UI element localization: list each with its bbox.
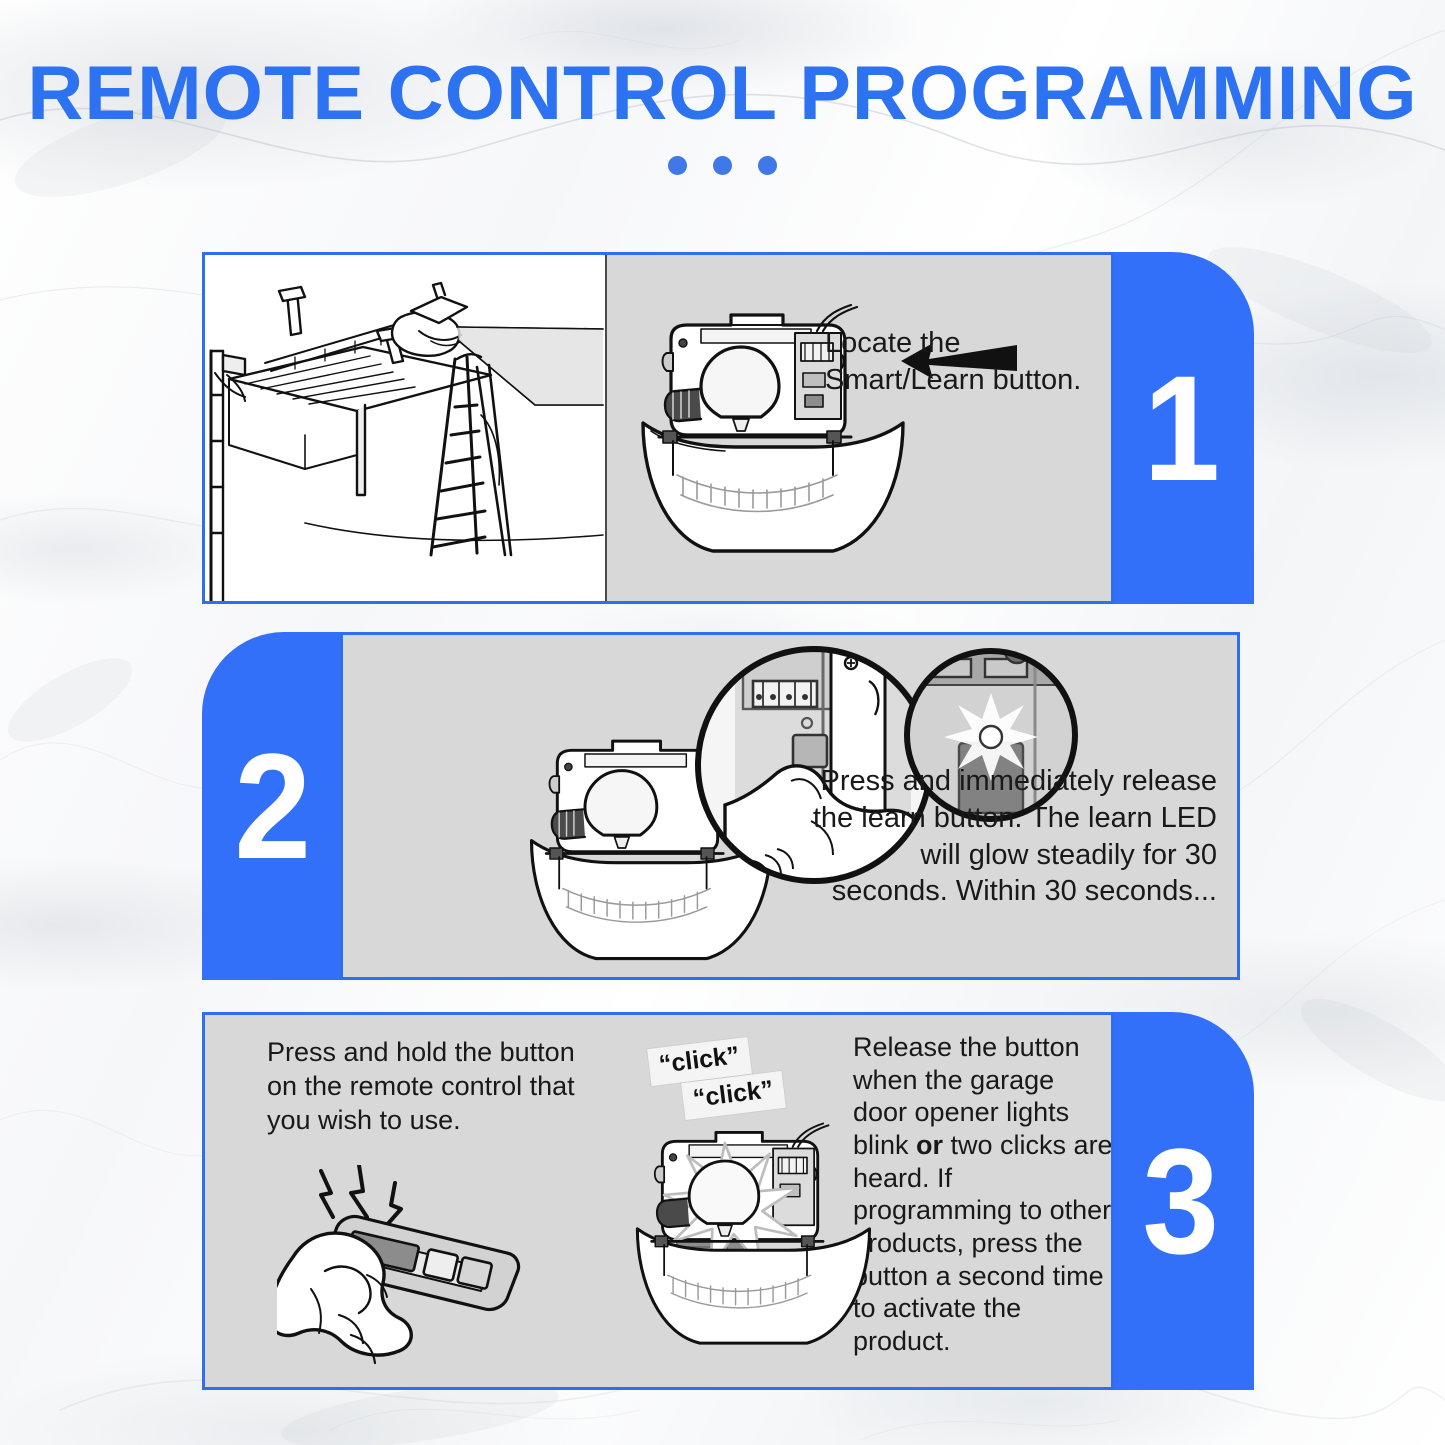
- step-number-2: 2: [235, 731, 312, 881]
- step-number-tab-3: 3: [1108, 1012, 1254, 1390]
- step-number-tab-2: 2: [202, 632, 344, 980]
- infographic-page: REMOTE CONTROL PROGRAMMING 1: [0, 0, 1445, 1445]
- step-3-text-emphasis: or: [916, 1130, 943, 1160]
- step-number-1: 1: [1144, 353, 1221, 503]
- step-number-3: 3: [1143, 1126, 1220, 1276]
- step-panel-2: 2: [202, 632, 1240, 980]
- step-1-instruction: Locate the Smart/Learn button.: [825, 325, 1085, 398]
- title-dot-1: [668, 156, 687, 175]
- step-3-frame: Press and hold the button on the remote …: [202, 1012, 1114, 1390]
- title-dots-decoration: [0, 156, 1445, 175]
- step-number-tab-1: 1: [1110, 252, 1254, 604]
- step-2-frame: Press and immediately release the learn …: [340, 632, 1240, 980]
- title-dot-2: [713, 156, 732, 175]
- step-3-instruction-left: Press and hold the button on the remote …: [267, 1035, 597, 1137]
- garage-door-opener-flashing-illustration: [617, 1111, 897, 1361]
- garage-with-ladder-illustration: [205, 255, 605, 601]
- step-panel-1: 1: [202, 252, 1254, 604]
- step-1-scene-left: [205, 255, 607, 601]
- step-2-instruction: Press and immediately release the learn …: [797, 763, 1217, 910]
- step-panel-3: 3 Press and hold the button on the remot…: [202, 1012, 1252, 1390]
- step-1-scene-right: [607, 255, 1111, 601]
- title-dot-3: [758, 156, 777, 175]
- step-1-frame: Locate the Smart/Learn button.: [202, 252, 1114, 604]
- page-title: REMOTE CONTROL PROGRAMMING: [0, 56, 1445, 132]
- hand-holding-remote-illustration: [277, 1165, 577, 1385]
- title-block: REMOTE CONTROL PROGRAMMING: [0, 56, 1445, 175]
